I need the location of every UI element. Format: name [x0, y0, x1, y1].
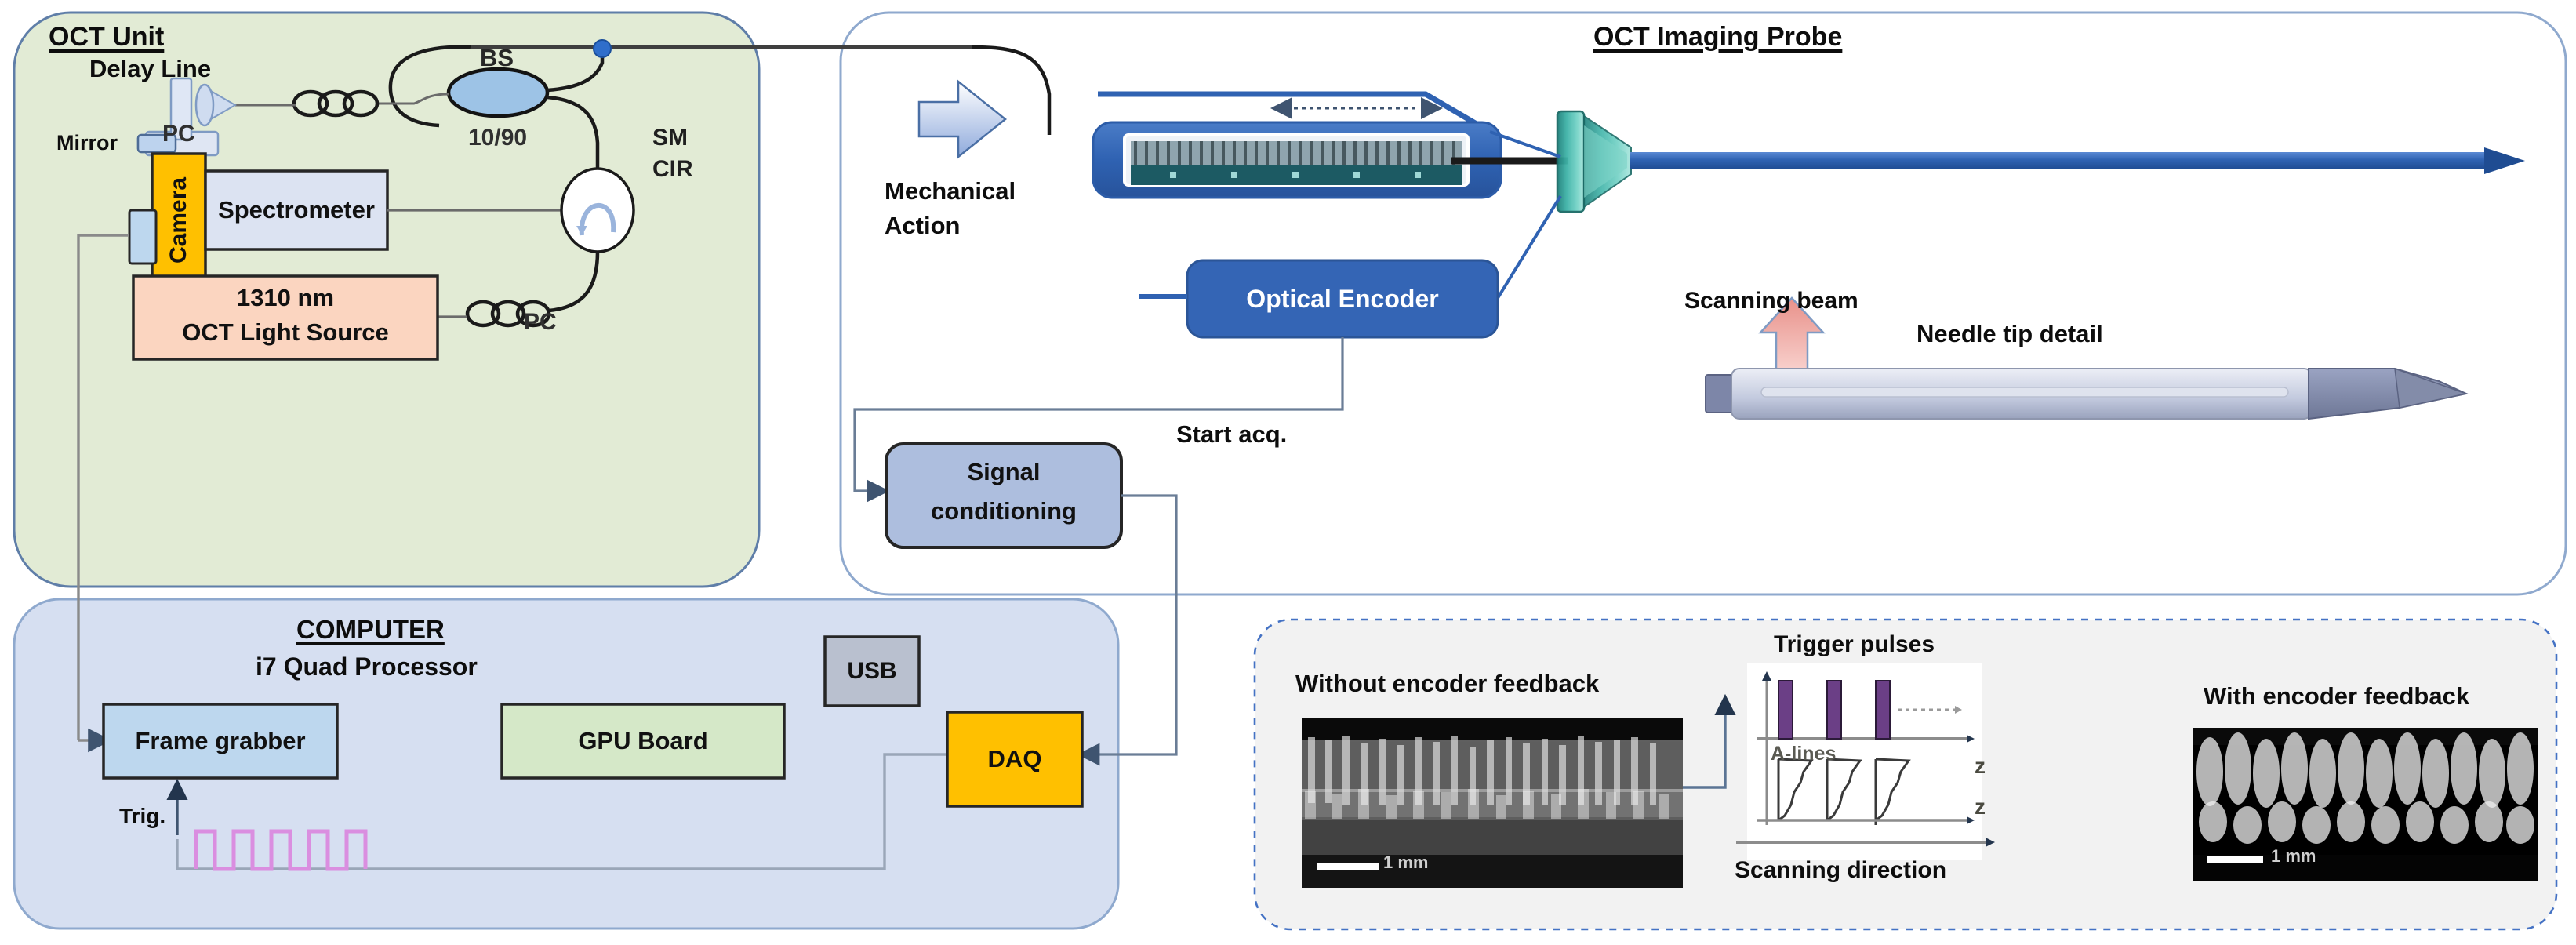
probe-shaft: [1630, 152, 2484, 169]
scanning-beam-label: Scanning beam: [1684, 289, 1858, 314]
sm-label: SM: [652, 125, 688, 151]
delay-line-label: Delay Line: [89, 56, 211, 82]
needle-tip-illustration: [1706, 369, 2466, 419]
mechanical-action-line2: Action: [885, 213, 960, 239]
start-acq-label: Start acq.: [1176, 422, 1287, 448]
light-source-line2: OCT Light Source: [133, 317, 438, 348]
mirror-label: Mirror: [56, 132, 118, 154]
needle-tip-detail-label: Needle tip detail: [1917, 322, 2103, 347]
split-ratio-label: 10/90: [468, 125, 527, 151]
light-source-line1: 1310 nm: [133, 282, 438, 314]
a-lines-label: A-lines: [1771, 743, 1836, 764]
computer-subtitle: i7 Quad Processor: [256, 654, 478, 681]
without-feedback-caption: Without encoder feedback: [1295, 671, 1599, 697]
with-feedback-caption: With encoder feedback: [2204, 684, 2469, 710]
diagram-canvas: [0, 0, 2576, 945]
pc-bottom-label: PC: [524, 310, 557, 335]
circulator: [561, 169, 634, 252]
frame-grabber-label: Frame grabber: [104, 704, 337, 778]
trigger-pulses-title: Trigger pulses: [1774, 632, 1935, 657]
fiber-terminator-dot: [594, 40, 611, 57]
camera-label: Camera: [152, 154, 205, 287]
optical-encoder-label: Optical Encoder: [1187, 260, 1498, 337]
scalebar-right-label: 1 mm: [2271, 847, 2316, 865]
signal-conditioning-line1: Signal: [886, 453, 1121, 491]
trigger-label: Trig.: [119, 805, 165, 827]
daq-label: DAQ: [947, 712, 1082, 806]
z-axis-bottom-label: z: [1975, 795, 1986, 818]
pc-top-label: PC: [162, 122, 195, 147]
usb-label: USB: [825, 637, 919, 706]
figure-root: OCT Unit Delay Line Mirror PC BS 10/90 S…: [0, 0, 2576, 945]
scanning-direction-label: Scanning direction: [1735, 858, 1946, 883]
probe-title: OCT Imaging Probe: [1593, 24, 1842, 52]
cir-label: CIR: [652, 157, 693, 182]
collimator-lens: [196, 85, 213, 125]
z-axis-top-label: z: [1975, 754, 1986, 777]
beam-splitter-label: BS: [480, 45, 514, 71]
gpu-board-label: GPU Board: [502, 704, 784, 778]
bscan-with-feedback: [2193, 728, 2538, 881]
beam-splitter: [449, 69, 547, 116]
spectrometer-label: Spectrometer: [205, 171, 387, 249]
computer-title: COMPUTER: [296, 616, 445, 644]
mechanical-action-line1: Mechanical: [885, 179, 1016, 205]
signal-conditioning-line2: conditioning: [886, 492, 1121, 530]
oct-unit-title: OCT Unit: [49, 24, 164, 52]
scalebar-left-label: 1 mm: [1383, 853, 1428, 871]
bscan-without-feedback: [1302, 718, 1683, 888]
